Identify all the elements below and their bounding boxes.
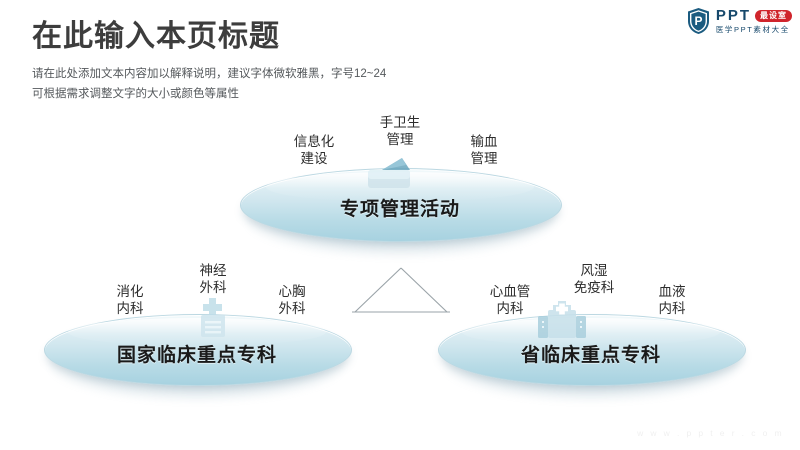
page-subtitle: 请在此处添加文本内容加以解释说明，建议字体微软雅黑，字号12~24 可根据需求调…	[32, 64, 386, 104]
satellite-bl-0: 消化 内科	[98, 283, 162, 318]
satellite-br-2-line2: 内科	[640, 300, 704, 317]
page-title: 在此输入本页标题	[32, 20, 280, 53]
logo-tagline: 医学PPT素材大全	[716, 26, 792, 34]
node-bottom-left-label: 国家临床重点专科	[44, 340, 350, 367]
node-top-label: 专项管理活动	[240, 194, 560, 221]
satellite-top-2: 输血 管理	[452, 133, 516, 168]
envelope-icon	[362, 156, 418, 190]
logo-text-block: PPT 最设室 医学PPT素材大全	[716, 8, 792, 34]
node-bottom-right-label: 省临床重点专科	[438, 340, 744, 367]
satellite-br-0-line1: 心血管	[474, 283, 546, 300]
satellite-top-1-line1: 手卫生	[368, 114, 432, 131]
logo-wordmark: PPT	[716, 8, 751, 23]
satellite-top-2-line1: 输血	[452, 133, 516, 150]
satellite-bl-2-line2: 外科	[260, 300, 324, 317]
subtitle-line-1: 请在此处添加文本内容加以解释说明，建议字体微软雅黑，字号12~24	[32, 64, 386, 84]
satellite-top-1-line2: 管理	[368, 131, 432, 148]
satellite-top-1: 手卫生 管理	[368, 114, 432, 149]
satellite-bl-1-line1: 神经	[181, 262, 245, 279]
medical-record-icon	[192, 296, 234, 340]
brand-logo[interactable]: P PPT 最设室 医学PPT素材大全	[686, 7, 792, 35]
satellite-bl-2-line1: 心胸	[260, 283, 324, 300]
satellite-br-0-line2: 内科	[474, 300, 546, 317]
logo-badge: 最设室	[755, 10, 792, 22]
satellite-bl-0-line2: 内科	[98, 300, 162, 317]
satellite-bl-2: 心胸 外科	[260, 283, 324, 318]
satellite-bl-1-line2: 外科	[181, 279, 245, 296]
shield-icon: P	[686, 7, 711, 35]
node-bottom-right[interactable]: 省临床重点专科	[438, 314, 744, 398]
satellite-br-1: 风湿 免疫科	[558, 262, 630, 297]
satellite-top-0-line2: 建设	[282, 150, 346, 167]
subtitle-line-2: 可根据需求调整文字的大小或颜色等属性	[32, 84, 386, 104]
satellite-br-2-line1: 血液	[640, 283, 704, 300]
satellite-br-1-line1: 风湿	[558, 262, 630, 279]
logo-top-row: PPT 最设室	[716, 8, 792, 23]
svg-text:P: P	[694, 14, 702, 28]
satellite-bl-0-line1: 消化	[98, 283, 162, 300]
satellite-top-2-line2: 管理	[452, 150, 516, 167]
slide-canvas: 在此输入本页标题 请在此处添加文本内容加以解释说明，建议字体微软雅黑，字号12~…	[0, 0, 800, 450]
satellite-bl-1: 神经 外科	[181, 262, 245, 297]
site-watermark: w w w . p p t e r . c o m	[637, 428, 784, 438]
satellite-br-2: 血液 内科	[640, 283, 704, 318]
satellite-top-0-line1: 信息化	[282, 133, 346, 150]
satellite-top-0: 信息化 建设	[282, 133, 346, 168]
satellite-br-0: 心血管 内科	[474, 283, 546, 318]
satellite-br-1-line2: 免疫科	[558, 279, 630, 296]
